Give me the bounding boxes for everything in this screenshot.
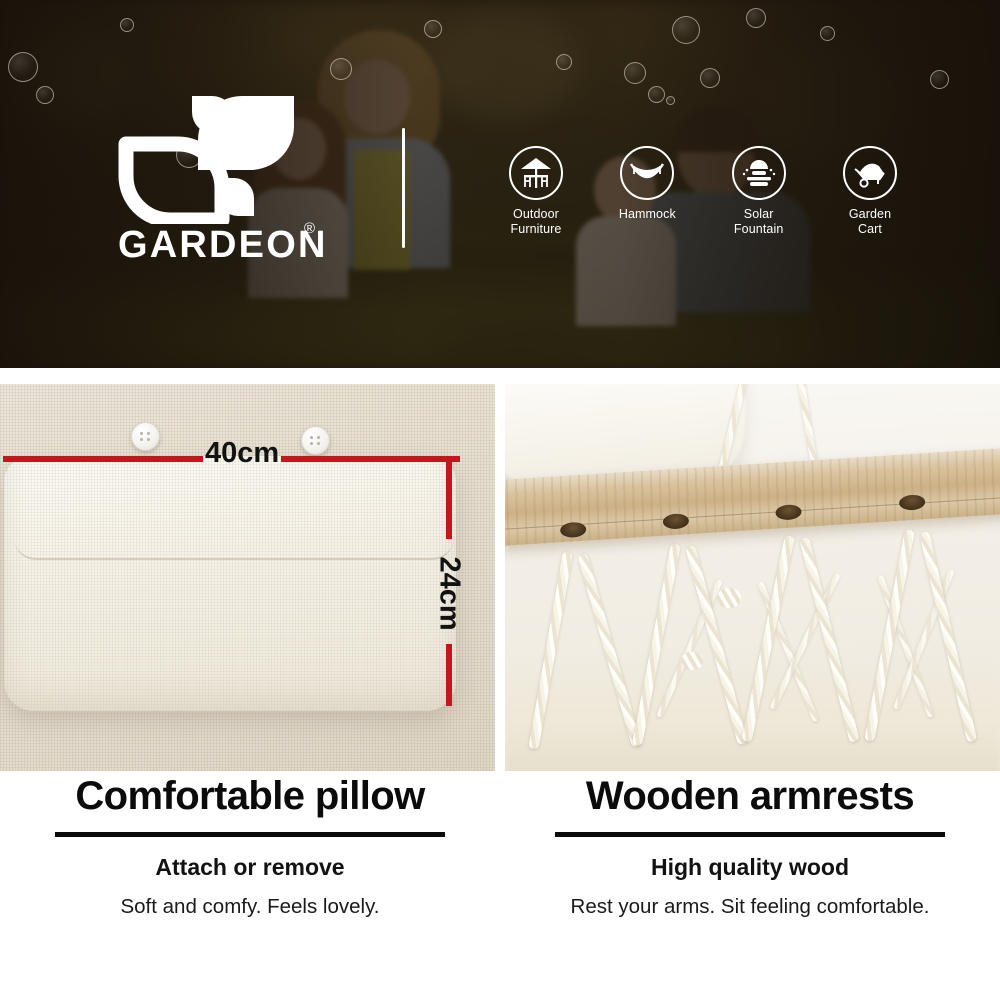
feature-label: Outdoor Furniture bbox=[511, 207, 562, 237]
caption-title: Wooden armrests bbox=[500, 775, 1000, 817]
soap-bubble bbox=[746, 8, 766, 28]
pillow-button bbox=[301, 426, 330, 455]
width-dimension-line-right bbox=[281, 456, 460, 462]
hammock-icon bbox=[620, 146, 674, 200]
height-dimension-label: 24cm bbox=[433, 557, 466, 631]
soap-bubble bbox=[820, 26, 835, 41]
feature-label-line1: Hammock bbox=[619, 207, 676, 221]
soap-bubble bbox=[424, 20, 442, 38]
height-dimension-line-bottom bbox=[446, 644, 452, 706]
pillow-photo: 40cm 24cm bbox=[0, 384, 495, 771]
width-dimension-line-left bbox=[3, 456, 203, 462]
outdoor-furniture-icon bbox=[509, 146, 563, 200]
soap-bubble bbox=[330, 58, 352, 80]
rope-knot bbox=[717, 588, 741, 608]
feature-label: Hammock bbox=[619, 207, 676, 222]
solar-fountain-icon bbox=[732, 146, 786, 200]
caption-row: Comfortable pillow Attach or remove Soft… bbox=[0, 775, 1000, 1000]
pillow-button bbox=[131, 422, 160, 451]
feature-label-line1: Outdoor bbox=[513, 207, 559, 221]
soap-bubble bbox=[8, 52, 38, 82]
feature-solar-fountain: Solar Fountain bbox=[711, 146, 807, 237]
soap-bubble bbox=[700, 68, 720, 88]
product-infographic: GARDEON ® Outdoor Furniture bbox=[0, 0, 1000, 1000]
soap-bubble bbox=[624, 62, 646, 84]
soap-bubble bbox=[666, 96, 675, 105]
caption-title: Comfortable pillow bbox=[0, 775, 500, 817]
caption-subtitle: High quality wood bbox=[500, 854, 1000, 881]
soap-bubble bbox=[36, 86, 54, 104]
brand-wordmark: GARDEON bbox=[118, 226, 328, 264]
soap-bubble bbox=[672, 16, 700, 44]
feature-label-line1: Solar bbox=[744, 207, 774, 221]
caption-pillow: Comfortable pillow Attach or remove Soft… bbox=[0, 775, 500, 919]
soap-bubble bbox=[648, 86, 665, 103]
banner-divider bbox=[402, 128, 405, 248]
feature-outdoor-furniture: Outdoor Furniture bbox=[488, 146, 584, 237]
rope-knot bbox=[681, 652, 703, 670]
brand-banner: GARDEON ® Outdoor Furniture bbox=[0, 0, 1000, 368]
caption-subtitle: Attach or remove bbox=[0, 854, 500, 881]
brand-logo: GARDEON ® bbox=[118, 92, 318, 272]
soap-bubble bbox=[930, 70, 949, 89]
pillow-seam bbox=[14, 538, 454, 560]
caption-description: Rest your arms. Sit feeling comfortable. bbox=[500, 895, 1000, 919]
caption-rule bbox=[555, 832, 945, 837]
leaf-logo-icon bbox=[118, 92, 298, 224]
feature-hammock: Hammock bbox=[599, 146, 695, 237]
caption-rule bbox=[55, 832, 445, 837]
feature-label: Garden Cart bbox=[849, 207, 891, 237]
wooden-armrest-photo bbox=[505, 384, 1000, 771]
soap-bubble bbox=[556, 54, 572, 70]
height-dimension-line-top bbox=[446, 459, 452, 539]
registered-trademark-symbol: ® bbox=[304, 220, 315, 237]
feature-garden-cart: Garden Cart bbox=[822, 146, 918, 237]
garden-cart-icon bbox=[843, 146, 897, 200]
pillow-object bbox=[4, 456, 456, 711]
feature-label-line2: Furniture bbox=[511, 222, 562, 236]
feature-label: Solar Fountain bbox=[734, 207, 783, 237]
feature-icon-row: Outdoor Furniture Hammock bbox=[488, 146, 918, 237]
soap-bubble bbox=[120, 18, 134, 32]
feature-label-line2: Cart bbox=[858, 222, 882, 236]
feature-label-line2: Fountain bbox=[734, 222, 783, 236]
width-dimension-label: 40cm bbox=[205, 437, 279, 470]
feature-label-line1: Garden bbox=[849, 207, 891, 221]
caption-armrests: Wooden armrests High quality wood Rest y… bbox=[500, 775, 1000, 919]
photo-panels: 40cm 24cm bbox=[0, 384, 1000, 771]
caption-description: Soft and comfy. Feels lovely. bbox=[0, 895, 500, 919]
